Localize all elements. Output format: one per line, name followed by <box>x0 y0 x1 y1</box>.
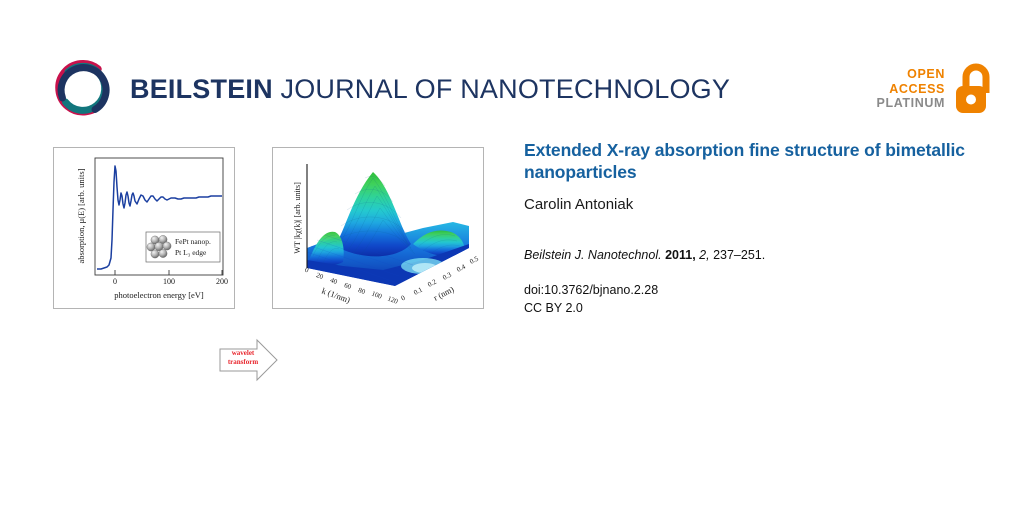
journal-wordmark: BEILSTEIN JOURNAL OF NANOTECHNOLOGY <box>130 76 730 103</box>
open-access-badge: OPEN ACCESS PLATINUM <box>877 58 996 120</box>
wt-ktick-60: 60 <box>343 281 353 291</box>
author-list: Carolin Antoniak <box>524 196 994 214</box>
xas-xtick-0: 0 <box>113 277 117 286</box>
wavelet-transform-arrow: wavelet transform <box>219 338 279 382</box>
graphical-abstract: 0 100 200 photoelectron energy [eV] abso… <box>0 138 500 318</box>
wt-ktick-80: 80 <box>357 286 367 296</box>
wt-zaxis-label: WT |kχ(k)| [arb. units] <box>293 182 302 254</box>
oa-line-platinum: PLATINUM <box>877 96 945 111</box>
doi-link[interactable]: doi:10.3762/bjnano.2.28 <box>524 281 994 299</box>
wordmark-light: JOURNAL OF NANOTECHNOLOGY <box>273 74 730 104</box>
xas-inset-line1: FePt nanop. <box>175 237 211 246</box>
wavelet-arrow-label-line1: wavelet <box>232 349 255 357</box>
beilstein-spiral-logo-icon <box>52 58 114 120</box>
journal-logo: BEILSTEIN JOURNAL OF NANOTECHNOLOGY <box>52 56 730 122</box>
wt-ktick-20: 20 <box>315 271 325 281</box>
xas-inset-line2: Pt L₃ edge <box>175 248 207 257</box>
oa-line-access: ACCESS <box>877 82 945 97</box>
figure-panel-xas: 0 100 200 photoelectron energy [eV] abso… <box>53 147 235 309</box>
open-padlock-icon <box>952 63 996 115</box>
wavelet-arrow-label-line2: transform <box>228 358 258 366</box>
license-label[interactable]: CC BY 2.0 <box>524 299 994 317</box>
citation-line: Beilstein J. Nanotechnol. 2011, 2, 237–2… <box>524 247 994 264</box>
page-header: BEILSTEIN JOURNAL OF NANOTECHNOLOGY OPEN… <box>0 0 1024 140</box>
citation-year: 2011, <box>665 248 696 262</box>
wt-ktick-0: 0 <box>304 266 310 275</box>
wordmark-bold: BEILSTEIN <box>130 74 273 104</box>
xas-xtick-200: 200 <box>216 277 228 286</box>
xas-inset: FePt nanop. Pt L₃ edge <box>146 232 220 262</box>
oa-line-open: OPEN <box>877 67 945 82</box>
xas-yaxis-label: absorption, μ(E) [arb. units] <box>76 168 86 263</box>
wt-raxis-label: r (nm) <box>432 284 456 303</box>
page-title: Extended X-ray absorption fine structure… <box>524 140 994 183</box>
figure-panel-wavelet: WT |kχ(k)| [arb. units] 0 20 40 60 80 10… <box>272 147 484 309</box>
article-metadata: Extended X-ray absorption fine structure… <box>524 140 994 318</box>
wavelet-arrow-label: wavelet transform <box>221 349 265 367</box>
doi-and-license: doi:10.3762/bjnano.2.28 CC BY 2.0 <box>524 281 994 317</box>
wt-rtick-0.5: 0.5 <box>468 254 480 265</box>
open-access-text: OPEN ACCESS PLATINUM <box>877 67 945 111</box>
wt-ktick-100: 100 <box>370 290 383 301</box>
xas-xtick-100: 100 <box>163 277 175 286</box>
wt-rtick-0.3: 0.3 <box>441 270 453 281</box>
xas-xaxis-label: photoelectron energy [eV] <box>114 290 204 300</box>
wt-ktick-120: 120 <box>386 295 399 306</box>
wt-rtick-0.1: 0.1 <box>412 285 424 296</box>
wt-rtick-0.4: 0.4 <box>455 262 467 273</box>
wt-rtick-0.2: 0.2 <box>426 277 438 288</box>
wt-rtick-0: 0 <box>400 294 407 303</box>
citation-pages: 237–251. <box>713 248 765 262</box>
citation-volume: 2, <box>699 248 709 262</box>
wt-ktick-40: 40 <box>329 276 339 286</box>
citation-journal: Beilstein J. Nanotechnol. <box>524 248 662 262</box>
